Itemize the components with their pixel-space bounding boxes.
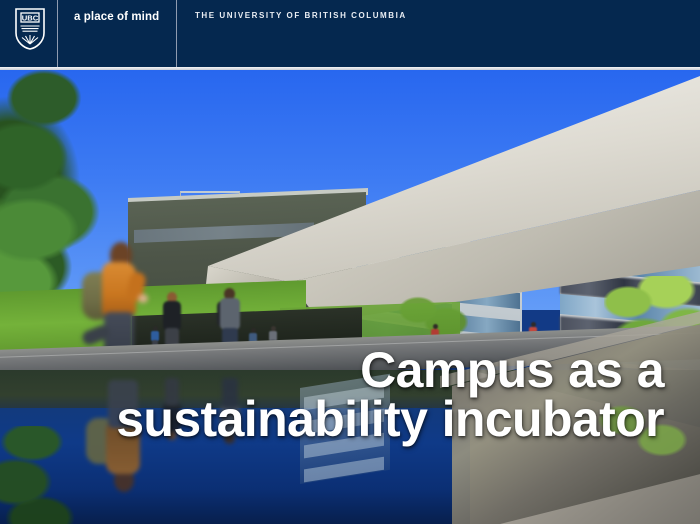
person-torso (220, 298, 240, 330)
title-block: Campus as a sustainability incubator (104, 346, 664, 444)
header-divider-2 (176, 0, 177, 67)
slide-title: Campus as a sustainability incubator (104, 346, 664, 444)
ubc-crest-icon: UBC (14, 7, 46, 51)
person-torso (163, 301, 181, 331)
campus-photo: Campus as a sustainability incubator Dr.… (0, 70, 700, 524)
presentation-slide: UBC a place of (0, 0, 700, 524)
pavilion-window-row (454, 258, 520, 281)
ubc-tagline: a place of mind (74, 11, 159, 23)
header-divider-1 (57, 0, 58, 67)
university-name: THE UNIVERSITY OF BRITISH COLUMBIA (195, 11, 407, 20)
svg-text:UBC: UBC (22, 13, 39, 22)
person-hand (138, 294, 148, 303)
ubc-header-bar: UBC a place of (0, 0, 700, 67)
